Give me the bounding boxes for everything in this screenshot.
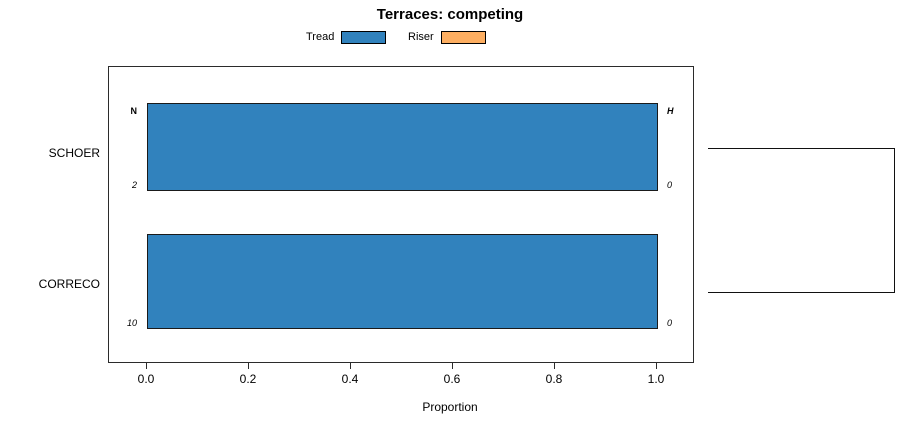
plot-panel: N 2 H 0 10 0 (108, 66, 694, 363)
annotation-schoer-left-bottom: 2 (97, 180, 137, 190)
annotation-schoer-left-top: N (97, 106, 137, 116)
legend-label-riser: Riser (408, 31, 434, 43)
annotation-schoer-right-top: H (667, 106, 707, 116)
x-axis-title: Proportion (0, 400, 900, 414)
side-panel-frame (708, 148, 895, 293)
legend-swatch-riser (441, 31, 486, 44)
y-axis-label-schoer-wrap: SCHOER (0, 146, 100, 160)
legend-label-tread: Tread (306, 31, 334, 43)
legend-entry-riser[interactable]: Riser (408, 28, 486, 46)
chart-canvas: Terraces: competing Tread Riser SCHOER C… (0, 0, 900, 440)
x-axis: 0.0 0.2 0.4 0.6 0.8 1.0 (108, 363, 694, 403)
chart-title: Terraces: competing (0, 6, 900, 24)
y-axis-label-schoer: SCHOER (49, 146, 100, 160)
x-axis-tick (146, 363, 147, 369)
annotation-correco-right-bottom: 0 (667, 318, 707, 328)
legend-row: Tread Riser (250, 28, 650, 46)
bar-schoer-tread[interactable] (147, 103, 658, 191)
y-axis-label-correco: CORRECO (39, 277, 100, 291)
x-axis-tick-label: 1.0 (626, 372, 686, 386)
x-axis-tick (554, 363, 555, 369)
annotation-schoer-right-bottom: 0 (667, 180, 707, 190)
x-axis-tick-label: 0.4 (320, 372, 380, 386)
x-axis-tick (350, 363, 351, 369)
x-axis-tick-label: 0.8 (524, 372, 584, 386)
legend: Tread Riser (0, 28, 900, 46)
x-axis-tick (452, 363, 453, 369)
legend-swatch-tread (341, 31, 386, 44)
y-axis-label-correco-wrap: CORRECO (0, 277, 100, 291)
legend-entry-tread[interactable]: Tread (306, 28, 386, 46)
annotation-correco-left-bottom: 10 (91, 318, 137, 328)
x-axis-tick (656, 363, 657, 369)
x-axis-tick (248, 363, 249, 369)
x-axis-tick-label: 0.6 (422, 372, 482, 386)
x-axis-tick-label: 0.2 (218, 372, 278, 386)
bar-correco-tread[interactable] (147, 234, 658, 329)
x-axis-tick-label: 0.0 (116, 372, 176, 386)
